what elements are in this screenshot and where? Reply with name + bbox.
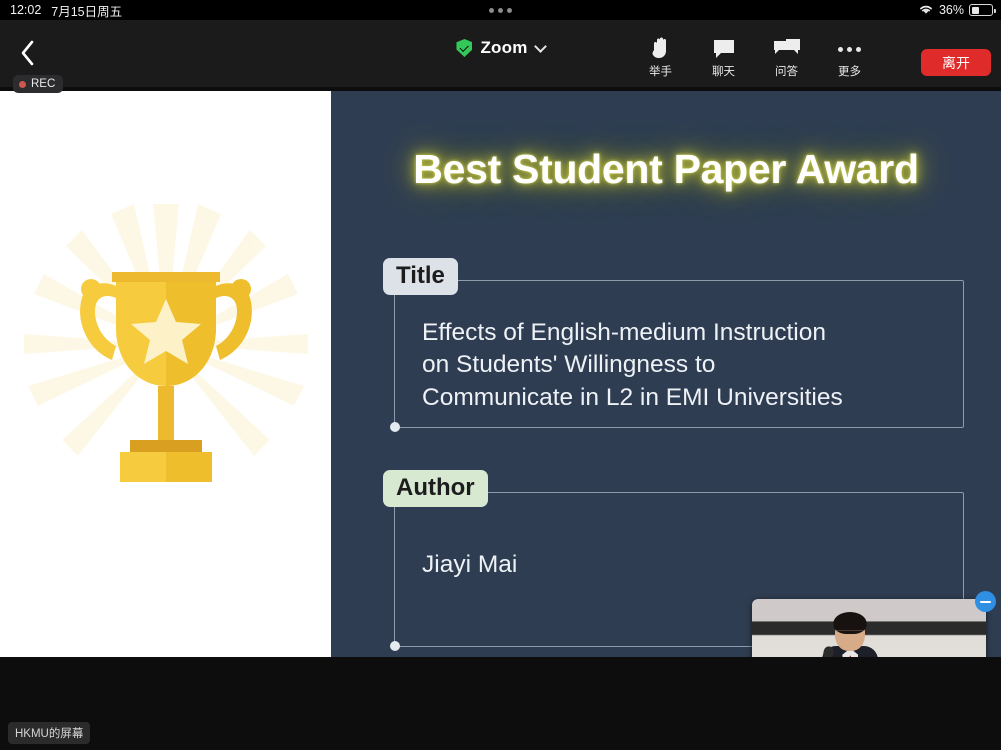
status-bar-center bbox=[0, 8, 1001, 13]
card-line: on Students' Willingness to bbox=[422, 349, 945, 381]
qa-label: 问答 bbox=[775, 63, 798, 79]
qa-button[interactable]: 问答 bbox=[755, 34, 818, 79]
drag-handle-dots-icon bbox=[489, 8, 512, 13]
leave-meeting-button[interactable]: 离开 bbox=[921, 49, 991, 76]
recording-label: REC bbox=[31, 78, 55, 90]
wifi-icon bbox=[918, 3, 934, 18]
minimize-icon bbox=[980, 601, 991, 603]
card-body-title: Effects of English-medium Instruction on… bbox=[422, 317, 945, 414]
card-line: Jiayi Mai bbox=[422, 549, 945, 581]
encryption-shield-icon bbox=[456, 39, 472, 57]
raise-hand-button[interactable]: 举手 bbox=[629, 34, 692, 79]
zoom-meeting-screen: 12:02 7月15日周五 36% Zoom bbox=[0, 0, 1001, 750]
raise-hand-icon bbox=[648, 34, 674, 60]
card-endcap-dot-icon bbox=[390, 641, 400, 651]
status-bar: 12:02 7月15日周五 36% bbox=[0, 0, 1001, 20]
chat-bubble-icon bbox=[712, 34, 736, 60]
card-line: Effects of English-medium Instruction bbox=[422, 317, 945, 349]
battery-percent: 36% bbox=[939, 3, 964, 17]
more-button[interactable]: 更多 bbox=[818, 34, 881, 79]
minimize-video-button[interactable] bbox=[975, 591, 996, 612]
slide-card-title: Title Effects of English-medium Instruct… bbox=[394, 280, 964, 428]
battery-icon bbox=[969, 4, 993, 16]
slide-heading: Best Student Paper Award bbox=[331, 146, 1001, 193]
chevron-down-icon bbox=[534, 40, 547, 53]
card-body-author: Jiayi Mai bbox=[422, 549, 945, 581]
card-endcap-dot-icon bbox=[390, 422, 400, 432]
status-bar-right: 36% bbox=[918, 3, 993, 18]
trophy-icon bbox=[16, 194, 316, 554]
recording-dot-icon bbox=[19, 81, 26, 88]
more-label: 更多 bbox=[838, 63, 861, 79]
shared-screen-stage[interactable]: Best Student Paper Award Title Effects o… bbox=[0, 91, 1001, 657]
toolbar-actions: 举手 聊天 问答 bbox=[629, 34, 881, 79]
more-dots-icon bbox=[838, 34, 861, 60]
raise-hand-label: 举手 bbox=[649, 63, 672, 79]
chat-button[interactable]: 聊天 bbox=[692, 34, 755, 79]
card-badge-title: Title bbox=[383, 258, 458, 295]
slide-left-panel bbox=[0, 91, 331, 657]
chat-label: 聊天 bbox=[712, 63, 735, 79]
recording-badge: REC bbox=[13, 75, 63, 93]
card-line: Communicate in L2 in EMI Universities bbox=[422, 382, 945, 414]
screen-share-label: HKMU的屏幕 bbox=[8, 722, 90, 744]
bottom-bar: HKMU的屏幕 bbox=[0, 657, 1001, 750]
slide-right-panel: Best Student Paper Award Title Effects o… bbox=[331, 91, 1001, 657]
meeting-name-label: Zoom bbox=[480, 38, 527, 58]
card-badge-author: Author bbox=[383, 470, 488, 507]
meeting-toolbar: Zoom 举手 聊天 bbox=[0, 20, 1001, 87]
qa-bubbles-icon bbox=[773, 34, 801, 60]
